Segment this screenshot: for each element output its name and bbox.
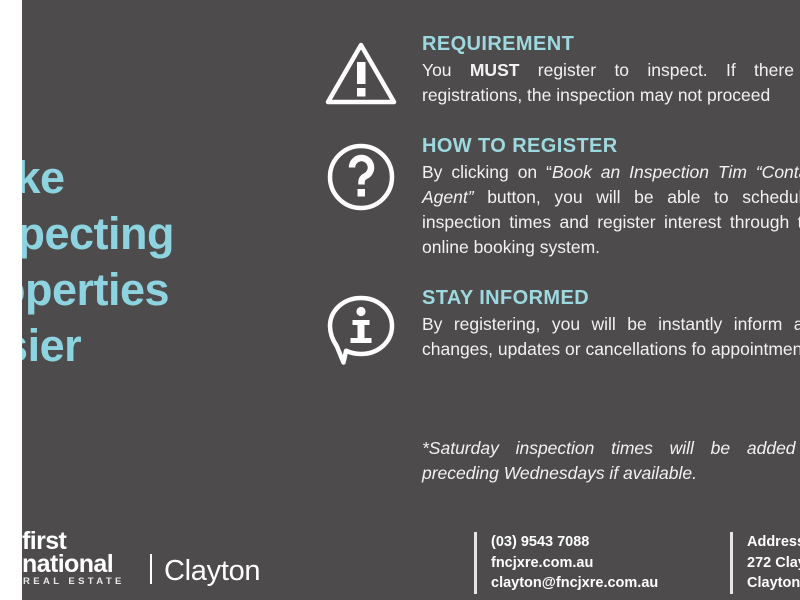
block-requirement: REQUIREMENT You MUST register to inspect…: [300, 32, 800, 108]
text-run: By clicking on “: [422, 162, 552, 182]
content-column: REQUIREMENT You MUST register to inspect…: [300, 32, 800, 388]
logo-divider: [150, 554, 152, 584]
headline-line-3: properties: [22, 262, 284, 318]
logo-suburb: Clayton: [164, 556, 260, 586]
block-title-requirement: REQUIREMENT: [422, 32, 800, 56]
question-circle-icon: [322, 138, 400, 216]
contact-website[interactable]: fncjxre.com.au: [491, 553, 658, 574]
warning-triangle-icon: [322, 36, 400, 114]
info-bubble-icon: [322, 290, 400, 368]
logo-tagline: REAL ESTATE: [23, 576, 125, 587]
headline-line-4: easier: [22, 318, 284, 374]
address-label: Address:: [747, 532, 800, 553]
text-run: button, you will be able to scheduled in…: [422, 187, 800, 257]
footer-contact-column: (03) 9543 7088 fncjxre.com.au clayton@fn…: [474, 532, 658, 594]
contact-phone[interactable]: (03) 9543 7088: [491, 532, 658, 553]
footer: first national REAL ESTATE Clayton (03) …: [22, 520, 800, 600]
text-run: register to inspect. If there a: [519, 60, 800, 80]
headline-line-1: Make: [22, 150, 284, 206]
text-run-italic: Book an Inspection Tim: [552, 162, 747, 182]
footer-address-column: Address: 272 Clayto Clayton V: [730, 532, 800, 594]
poster-root: Make inspecting properties easier REQUIR…: [0, 0, 800, 600]
block-body-stay-informed: By registering, you will be instantly in…: [422, 312, 800, 362]
text-run: You: [422, 60, 470, 80]
block-title-how-to-register: HOW TO REGISTER: [422, 134, 800, 158]
dark-background-panel: Make inspecting properties easier REQUIR…: [22, 0, 800, 600]
block-stay-informed: STAY INFORMED By registering, you will b…: [300, 286, 800, 362]
address-line-1: 272 Clayto: [747, 553, 800, 574]
contact-email[interactable]: clayton@fncjxre.com.au: [491, 573, 658, 594]
headline: Make inspecting properties easier: [22, 150, 284, 374]
block-body-how-to-register: By clicking on “Book an Inspection Tim “…: [422, 160, 800, 260]
block-title-stay-informed: STAY INFORMED: [422, 286, 800, 310]
first-national-logo: first national REAL ESTATE Clayton: [22, 528, 252, 594]
block-how-to-register: HOW TO REGISTER By clicking on “Book an …: [300, 134, 800, 260]
address-line-2: Clayton V: [747, 573, 800, 594]
text-run: registrations, the inspection may not pr…: [422, 85, 770, 105]
footnote-saturday-times: *Saturday inspection times will be added…: [422, 436, 800, 486]
logo-brand: first national: [22, 530, 113, 576]
block-body-requirement: You MUST register to inspect. If there a…: [422, 58, 800, 108]
text-run-bold: MUST: [470, 60, 520, 80]
logo-brand-line-2: national: [22, 553, 113, 576]
headline-line-2: inspecting: [22, 206, 284, 262]
